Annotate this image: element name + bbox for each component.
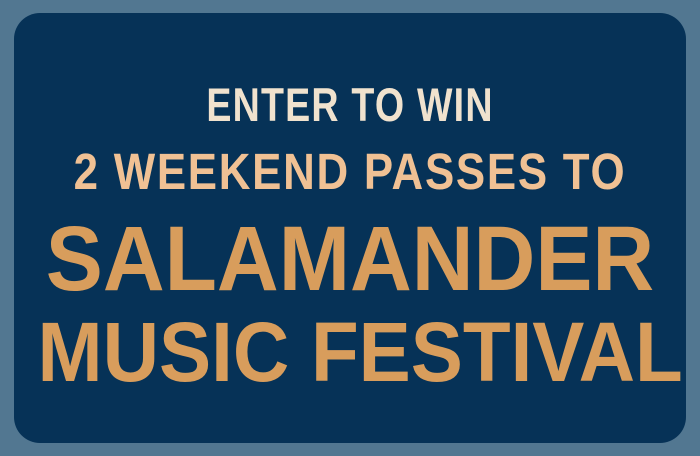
promo-card: ENTER TO WIN 2 WEEKEND PASSES TO SALAMAN…: [14, 13, 686, 443]
headline-line-music-festival: MUSIC FESTIVAL: [38, 310, 663, 394]
headline-line-enter-to-win: ENTER TO WIN: [81, 81, 619, 128]
headline-line-weekend-passes: 2 WEEKEND PASSES TO: [61, 146, 639, 197]
promo-background: ENTER TO WIN 2 WEEKEND PASSES TO SALAMAN…: [0, 0, 700, 456]
headline-line-salamander: SALAMANDER: [38, 213, 663, 305]
